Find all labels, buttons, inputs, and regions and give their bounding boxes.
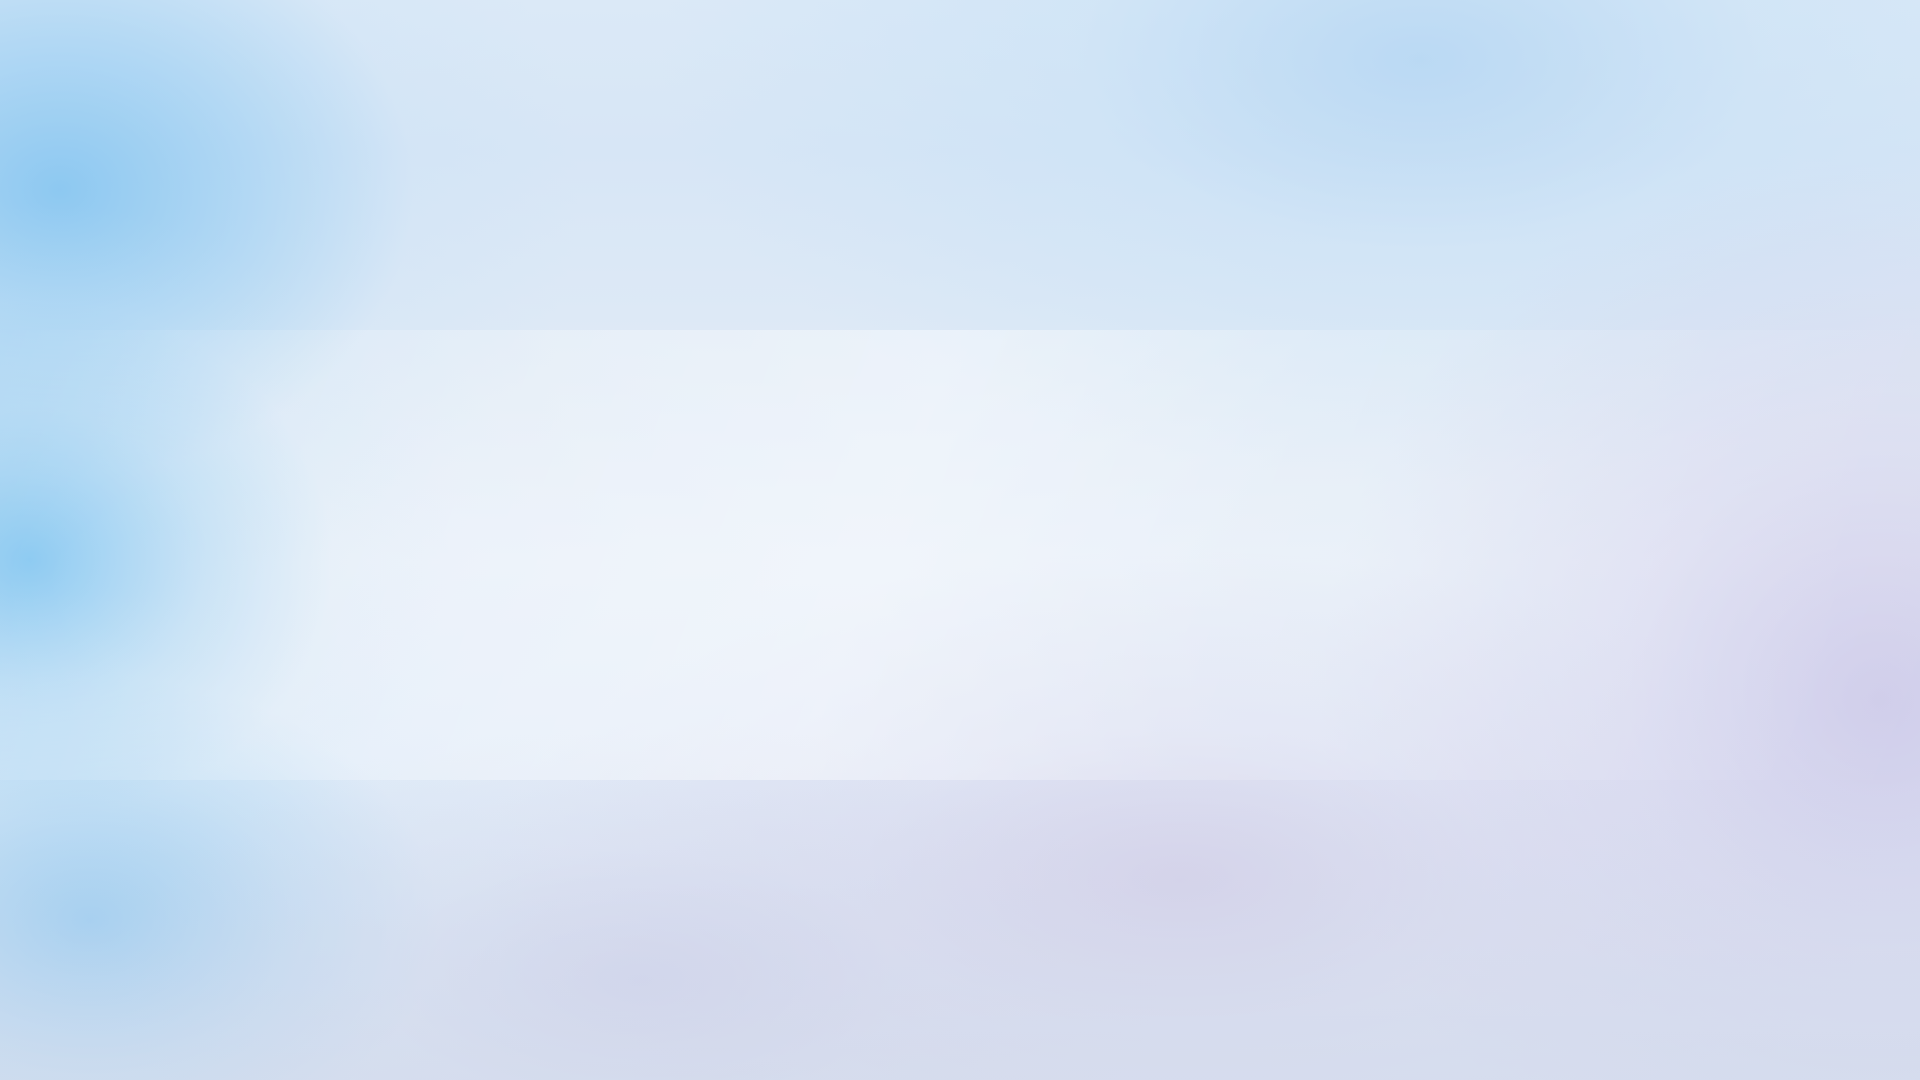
process-chevron-band xyxy=(88,368,1848,464)
slide-content xyxy=(0,0,1920,1080)
risk-assessment-process-slide xyxy=(0,0,1920,1080)
